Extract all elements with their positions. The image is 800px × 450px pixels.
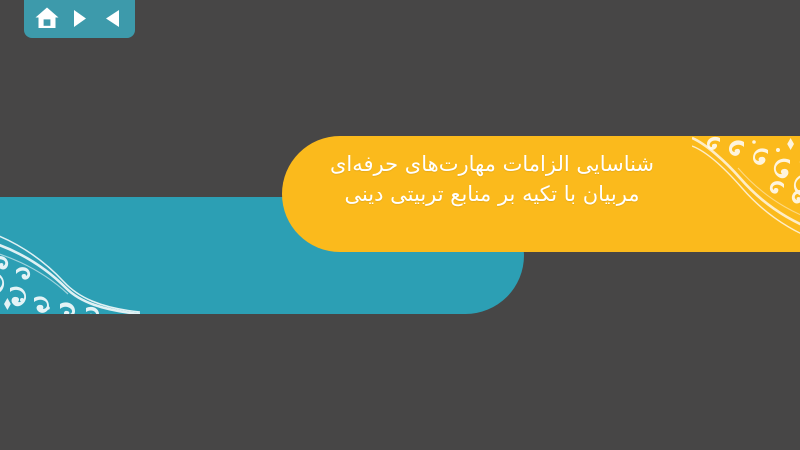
arabesque-corner-ornament-orange xyxy=(692,136,800,252)
home-icon xyxy=(35,7,59,29)
title-line-1: شناسایی الزامات مهارت‌های حرفه‌ای xyxy=(282,150,702,180)
next-slide-button[interactable] xyxy=(66,5,94,31)
title-line-2: مربیان با تکیه بر منابع تربیتی دینی xyxy=(282,180,702,210)
triangle-left-icon xyxy=(104,9,121,28)
arabesque-corner-ornament-teal xyxy=(0,204,140,314)
triangle-right-icon xyxy=(73,9,87,28)
previous-slide-button[interactable] xyxy=(98,5,126,31)
slide-title: شناسایی الزامات مهارت‌های حرفه‌ای مربیان… xyxy=(282,150,702,210)
navigation-bar xyxy=(24,0,135,38)
home-button[interactable] xyxy=(33,5,61,31)
slide-canvas: شناسایی الزامات مهارت‌های حرفه‌ای مربیان… xyxy=(0,0,800,450)
